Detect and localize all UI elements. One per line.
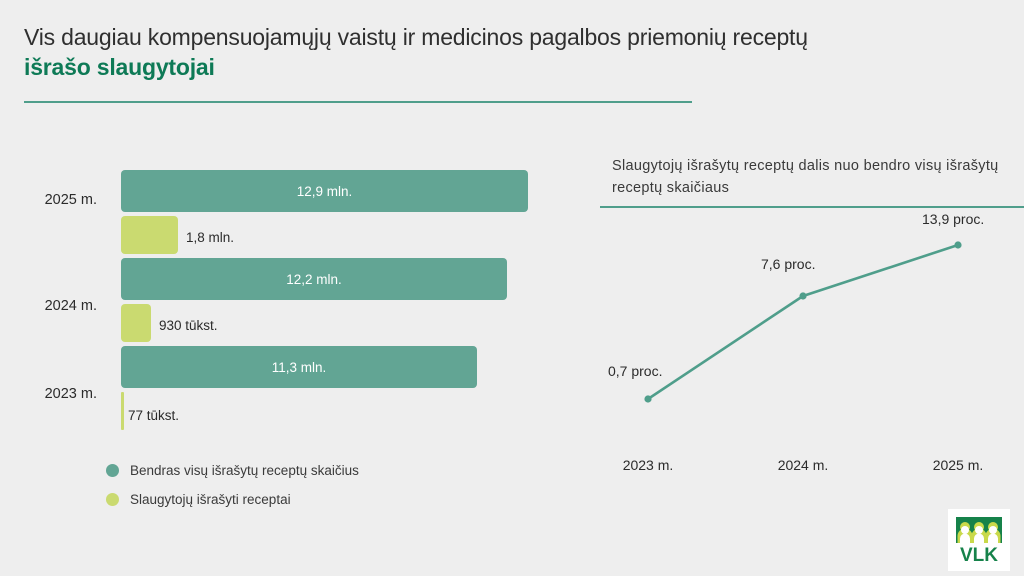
bar-total-2023: 11,3 mln.: [121, 346, 477, 388]
line-chart: Slaugytojų išrašytų receptų dalis nuo be…: [600, 155, 1024, 485]
vlk-logo-icon: VLK: [954, 515, 1004, 565]
line-point-label-2024: 7,6 proc.: [761, 256, 815, 272]
bar-chart: 2025 m. 12,9 mln. 1,8 mln. 2024 m. 12,2 …: [0, 150, 560, 440]
line-point-2024: [799, 292, 806, 299]
vlk-logo-text: VLK: [960, 545, 998, 565]
page-title-line1: Vis daugiau kompensuojamųjų vaistų ir me…: [24, 22, 1004, 52]
vlk-logo: VLK: [948, 509, 1010, 571]
line-chart-plot: [600, 210, 1024, 450]
bar-nurse-label-2025: 1,8 mln.: [186, 231, 234, 245]
line-point-label-2025: 13,9 proc.: [922, 211, 984, 227]
line-chart-divider: [600, 206, 1024, 208]
bar-total-2024: 12,2 mln.: [121, 258, 507, 300]
bar-group-2024: 2024 m. 12,2 mln. 930 tūkst.: [0, 258, 560, 358]
legend-label-nurse: Slaugytojų išrašyti receptai: [130, 492, 291, 507]
bar-nurse-label-2023: 77 tūkst.: [128, 409, 179, 423]
line-x-label-2025: 2025 m.: [913, 457, 1003, 473]
infographic-canvas: Vis daugiau kompensuojamųjų vaistų ir me…: [0, 0, 1024, 576]
bar-year-label: 2025 m.: [0, 192, 97, 208]
page-title-line2: išrašo slaugytojai: [24, 52, 1004, 82]
legend-swatch-lime-icon: [106, 493, 119, 506]
bar-total-2025: 12,9 mln.: [121, 170, 528, 212]
bar-year-label: 2024 m.: [0, 298, 97, 314]
legend-item-total: Bendras visų išrašytų receptų skaičius: [106, 458, 359, 482]
bar-nurse-2023: [121, 392, 124, 430]
header: Vis daugiau kompensuojamųjų vaistų ir me…: [24, 22, 1004, 82]
line-point-label-2023: 0,7 proc.: [608, 363, 662, 379]
line-point-2025: [954, 241, 961, 248]
bar-group-2025: 2025 m. 12,9 mln. 1,8 mln.: [0, 150, 560, 250]
bar-chart-legend: Bendras visų išrašytų receptų skaičius S…: [106, 458, 359, 516]
line-x-label-2023: 2023 m.: [603, 457, 693, 473]
header-divider: [24, 101, 692, 103]
legend-swatch-teal-icon: [106, 464, 119, 477]
bar-group-2023: 2023 m. 11,3 mln. 77 tūkst.: [0, 346, 560, 446]
bar-nurse-2024: [121, 304, 151, 342]
line-point-2023: [644, 395, 651, 402]
bar-year-label: 2023 m.: [0, 386, 97, 402]
bar-nurse-2025: [121, 216, 178, 254]
bar-nurse-label-2024: 930 tūkst.: [159, 319, 218, 333]
legend-item-nurse: Slaugytojų išrašyti receptai: [106, 487, 359, 511]
legend-label-total: Bendras visų išrašytų receptų skaičius: [130, 463, 359, 478]
line-x-label-2024: 2024 m.: [758, 457, 848, 473]
line-chart-title: Slaugytojų išrašytų receptų dalis nuo be…: [612, 155, 1024, 199]
